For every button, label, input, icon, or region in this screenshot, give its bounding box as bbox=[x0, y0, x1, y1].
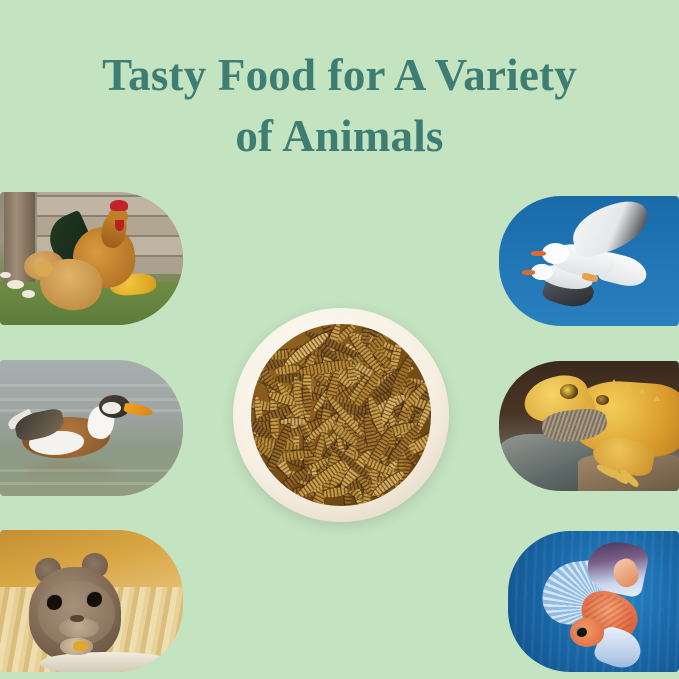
animal-photo-chicken: Rooster and hens in a farmyard by a ston… bbox=[0, 192, 183, 325]
seagull-beak bbox=[531, 251, 545, 256]
sky-background bbox=[499, 196, 679, 326]
poster-canvas: Tasty Food for A Variety of Animals bbox=[0, 0, 679, 679]
dragon-eye-far bbox=[596, 395, 609, 405]
page-title: Tasty Food for A Variety of Animals bbox=[0, 48, 679, 164]
seagull-secondary-beak bbox=[522, 270, 535, 275]
seagull-scene: Seagulls flying against a blue sky bbox=[499, 196, 679, 326]
water-background bbox=[0, 360, 183, 496]
duck-bill bbox=[124, 402, 155, 417]
page-title-line-1: Tasty Food for A Variety bbox=[0, 48, 679, 103]
fish-eye bbox=[576, 627, 586, 637]
duck-reflection bbox=[26, 461, 114, 485]
seagull-head bbox=[542, 243, 569, 264]
animal-photo-hamster: Hamster eating food from a dish bbox=[0, 530, 183, 672]
rooster-comb bbox=[110, 200, 128, 211]
mealworm-bowl: Bowl of dried mealworms bbox=[233, 308, 449, 522]
animal-photo-seagull: Seagulls flying against a blue sky bbox=[499, 196, 679, 326]
duck-scene: Duck swimming on calm water bbox=[0, 360, 183, 496]
rooster-wattle bbox=[115, 220, 124, 231]
hamster-scene: Hamster eating food from a dish bbox=[0, 530, 183, 672]
animal-photo-bearded-dragon: Bearded dragon lizard resting on a rock bbox=[499, 361, 679, 491]
dragon-eye bbox=[560, 384, 578, 398]
farmyard-background bbox=[0, 192, 183, 325]
mealworm-pile bbox=[251, 324, 430, 506]
page-title-line-2: of Animals bbox=[0, 109, 679, 164]
food-seed bbox=[73, 641, 88, 651]
food-dish bbox=[40, 652, 175, 672]
hamster-eye-right bbox=[86, 591, 102, 607]
fish-head bbox=[570, 618, 604, 646]
animal-photo-betta-fish: Orange betta fish with flowing blue fins… bbox=[508, 531, 679, 672]
hamster-eye-left bbox=[46, 594, 62, 610]
aquarium-background bbox=[508, 531, 679, 672]
animal-photo-duck: Duck swimming on calm water bbox=[0, 360, 183, 496]
bearded-dragon-scene: Bearded dragon lizard resting on a rock bbox=[499, 361, 679, 491]
cage-background bbox=[0, 530, 183, 672]
betta-fish-scene: Orange betta fish with flowing blue fins… bbox=[508, 531, 679, 672]
chicken-scene: Rooster and hens in a farmyard by a ston… bbox=[0, 192, 183, 325]
hen-head bbox=[35, 261, 53, 277]
terrarium-background bbox=[499, 361, 679, 491]
